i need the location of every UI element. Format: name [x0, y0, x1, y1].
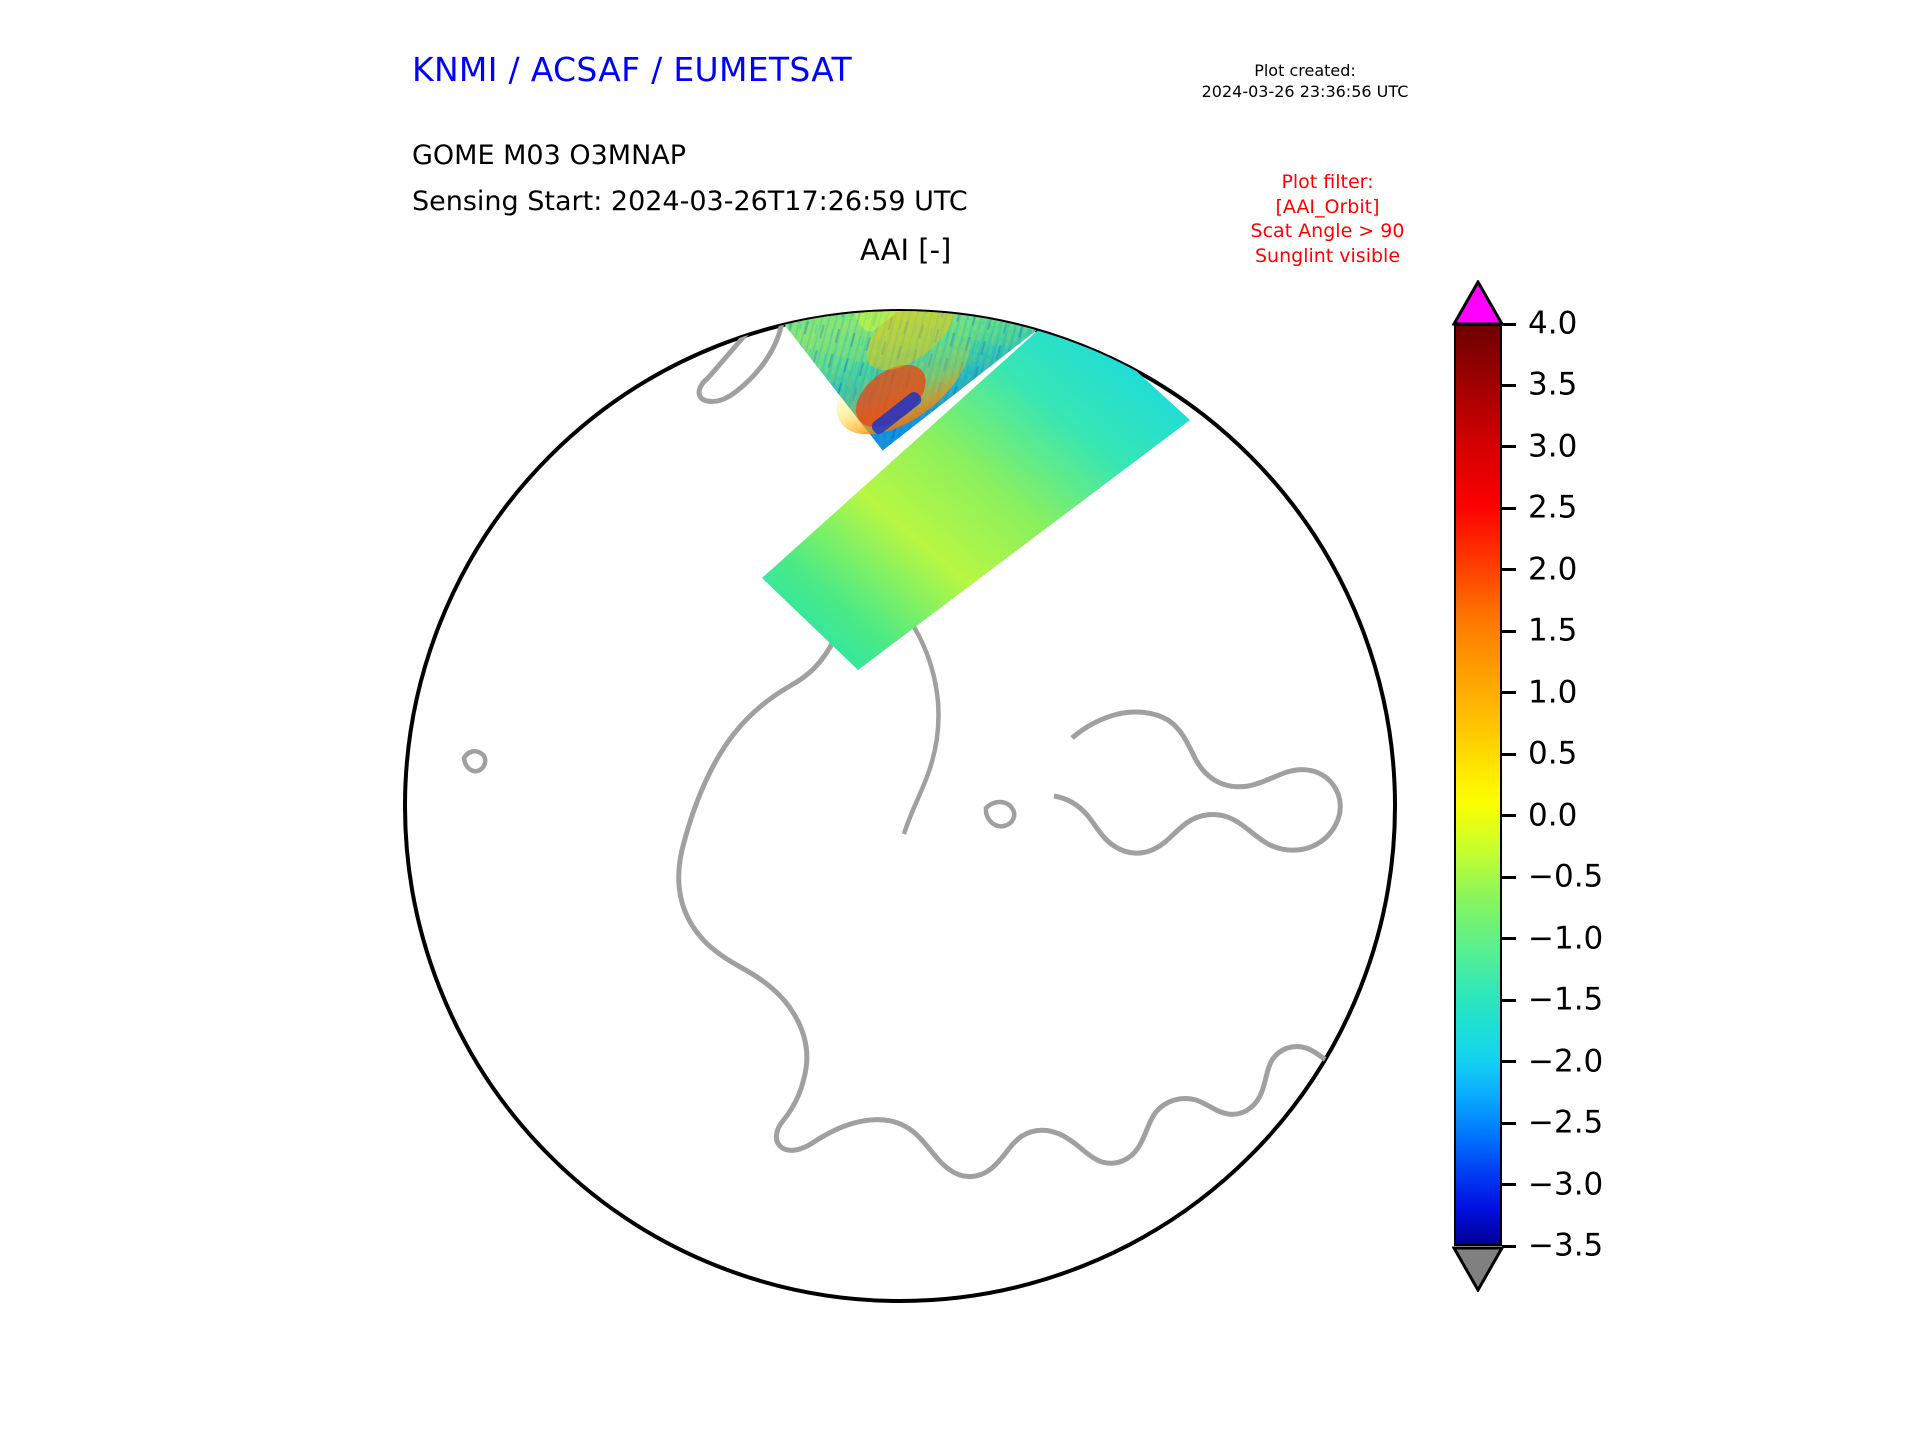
colorbar-tick-label: 4.0 [1528, 309, 1577, 340]
plot-filter-label: Plot filter: [1195, 170, 1460, 195]
colorbar-tick-label: −2.5 [1528, 1108, 1603, 1139]
plot-filter-block: Plot filter: [AAI_Orbit] Scat Angle > 90… [1195, 170, 1460, 268]
sensing-start-line: Sensing Start: 2024-03-26T17:26:59 UTC [412, 186, 968, 217]
colorbar-tick-label: −3.0 [1528, 1169, 1603, 1200]
colorbar-tick-label: −1.0 [1528, 923, 1603, 954]
colorbar-tick-label: −3.5 [1528, 1231, 1603, 1262]
colorbar-tick-mark [1502, 630, 1516, 633]
colorbar-tick-mark [1502, 937, 1516, 940]
colorbar: 4.03.53.02.52.01.51.00.50.0−0.5−1.0−1.5−… [1440, 280, 1740, 1300]
colorbar-gradient [1454, 324, 1502, 1246]
colorbar-tick-label: 0.5 [1528, 739, 1577, 770]
plot-filter-sunglint: Sunglint visible [1195, 244, 1460, 269]
product-identifier: GOME M03 O3MNAP [412, 140, 686, 171]
plot-created-block: Plot created: 2024-03-26 23:36:56 UTC [1160, 60, 1450, 102]
colorbar-tick-mark [1502, 876, 1516, 879]
colorbar-tick-mark [1502, 568, 1516, 571]
colorbar-tick-label: −1.5 [1528, 985, 1603, 1016]
colorbar-over-arrow-icon [1452, 280, 1504, 326]
colorbar-under-arrow-icon [1452, 1244, 1504, 1292]
colorbar-tick-mark [1502, 691, 1516, 694]
colorbar-tick-mark [1502, 1122, 1516, 1125]
colorbar-tick-mark [1502, 753, 1516, 756]
plot-filter-name: [AAI_Orbit] [1195, 195, 1460, 220]
plot-created-label: Plot created: [1160, 60, 1450, 81]
colorbar-tick-mark [1502, 814, 1516, 817]
colorbar-tick-label: −2.0 [1528, 1046, 1603, 1077]
colorbar-tick-label: 2.5 [1528, 493, 1577, 524]
colorbar-tick-mark [1502, 507, 1516, 510]
coastline-island-tasmania [536, 332, 573, 363]
map-plot-area [390, 278, 1410, 1308]
colorbar-tick-mark [1502, 999, 1516, 1002]
colorbar-tick-label: 3.0 [1528, 431, 1577, 462]
colorbar-tick-label: 1.5 [1528, 616, 1577, 647]
colorbar-tick-mark [1502, 1060, 1516, 1063]
colorbar-tick-label: 1.0 [1528, 677, 1577, 708]
colorbar-tick-mark [1502, 1245, 1516, 1248]
colorbar-tick-mark [1502, 1183, 1516, 1186]
colorbar-tick-mark [1502, 445, 1516, 448]
colorbar-tick-label: 0.0 [1528, 800, 1577, 831]
plot-created-timestamp: 2024-03-26 23:36:56 UTC [1160, 81, 1450, 102]
colorbar-tick-label: −0.5 [1528, 862, 1603, 893]
colorbar-tick-mark [1502, 323, 1516, 326]
colorbar-tick-mark [1502, 384, 1516, 387]
coastline-new-zealand-north [758, 278, 812, 323]
polar-projection-globe [390, 278, 1410, 1308]
page-title: AAI [-] [860, 233, 951, 267]
colorbar-tick-label: 3.5 [1528, 370, 1577, 401]
colorbar-tick-label: 2.0 [1528, 554, 1577, 585]
organisation-title: KNMI / ACSAF / EUMETSAT [412, 50, 852, 89]
plot-filter-scat-angle: Scat Angle > 90 [1195, 219, 1460, 244]
